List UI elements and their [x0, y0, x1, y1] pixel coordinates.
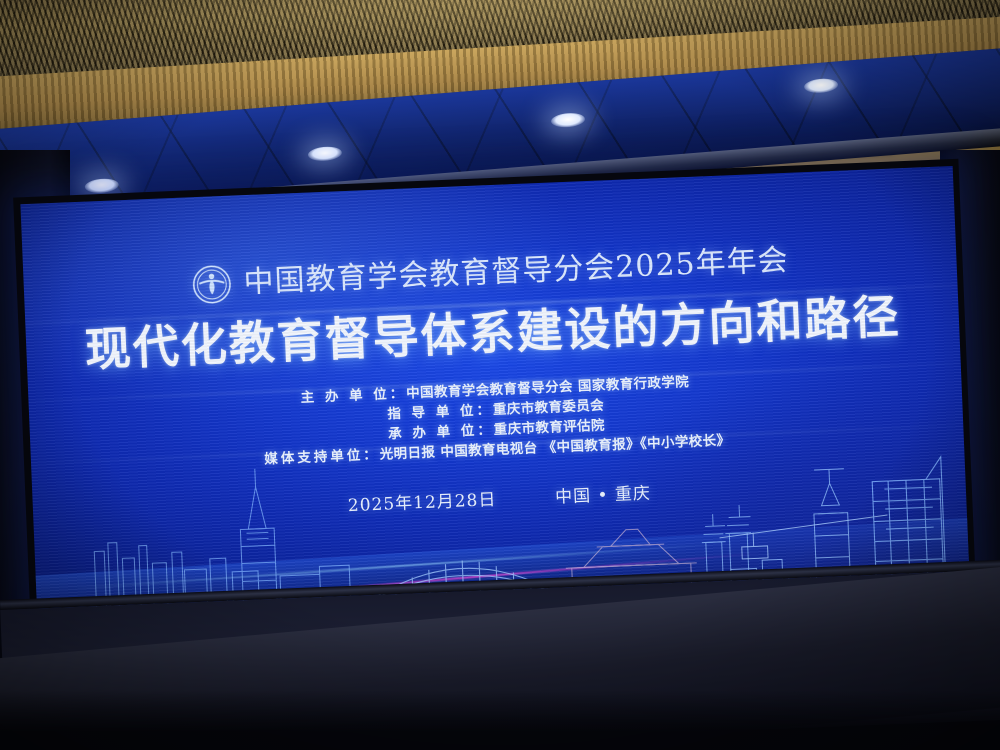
- spacer: [503, 503, 549, 505]
- event-date: 2025年12月28日: [348, 490, 497, 516]
- organizer-label: 承 办 单 位：: [388, 422, 494, 442]
- organizer-label: 指 导 单 位：: [387, 402, 493, 422]
- soffit-spotlight: [84, 177, 119, 194]
- organizer-label: 媒体支持单位：: [264, 447, 380, 468]
- event-location: 中国 • 重庆: [555, 484, 652, 508]
- organizer-label: 主 办 单 位：: [300, 386, 406, 406]
- stage-shadow: [0, 690, 1000, 750]
- soffit-spotlight: [804, 77, 839, 94]
- conference-hall-scene: 中国教育学会教育督导分会2025年年会 现代化教育督导体系建设的方向和路径 主 …: [0, 0, 1000, 750]
- organizer-value: 重庆市教育委员会: [493, 398, 605, 419]
- date-location-row: 2025年12月28日 中国 • 重庆: [33, 466, 966, 529]
- organizer-value: 重庆市教育评估院: [493, 418, 605, 439]
- organizer-block: 主 办 单 位：中国教育学会教育督导分会 国家教育行政学院 指 导 单 位：重庆…: [28, 361, 963, 479]
- soffit-spotlight: [307, 145, 342, 162]
- soffit-spotlight: [551, 112, 586, 129]
- cse-society-emblem-icon: [191, 264, 233, 306]
